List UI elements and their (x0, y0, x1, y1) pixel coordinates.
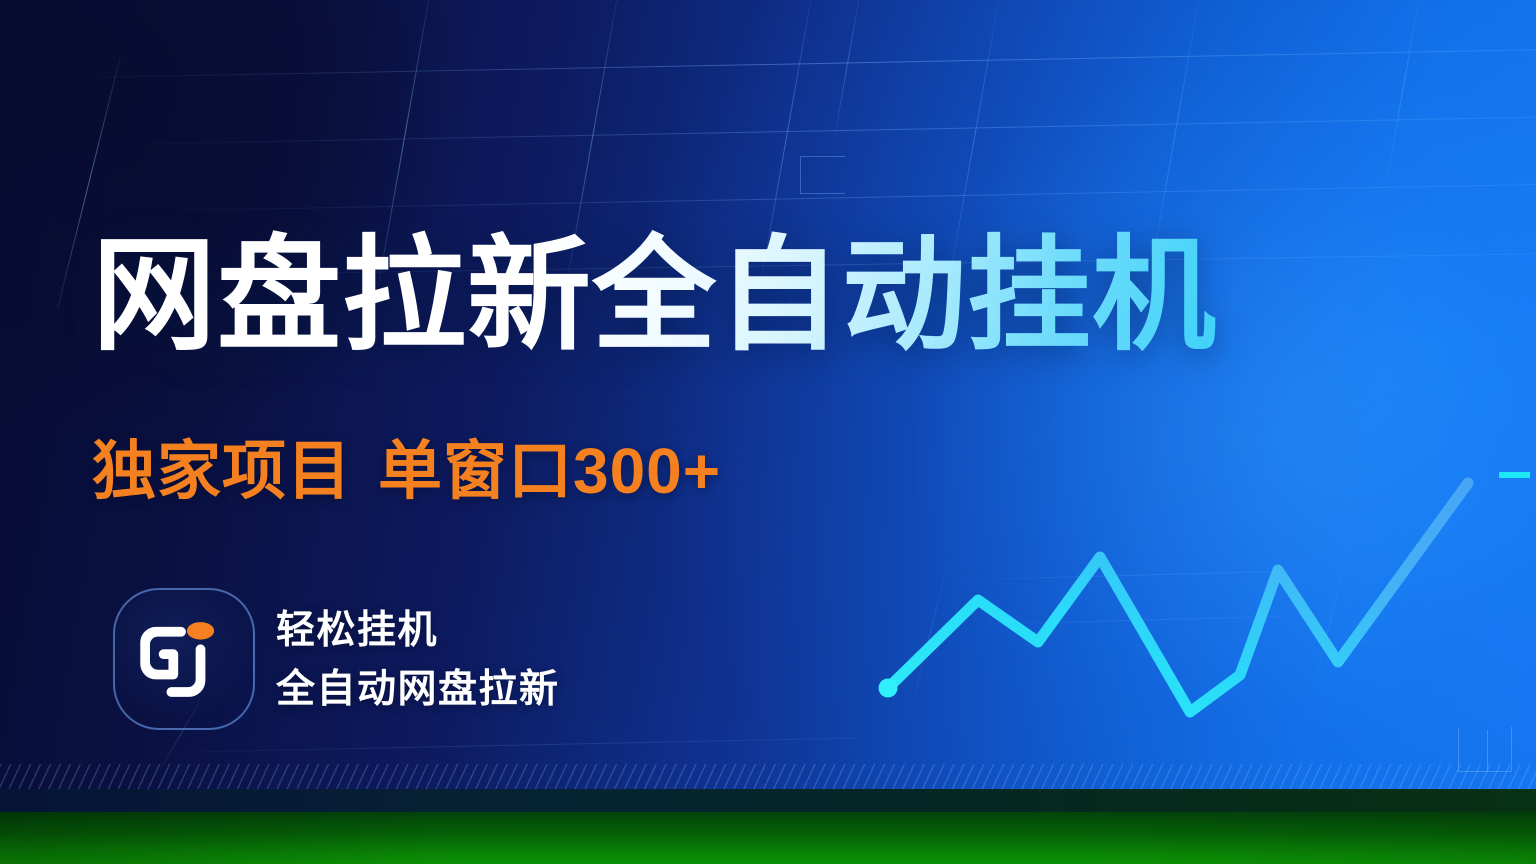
logo-gj-icon (115, 590, 253, 728)
corner-bracket (800, 156, 845, 194)
grid-line-diagonal (834, 0, 861, 138)
subtitle-right: 单窗口300+ (378, 435, 721, 507)
subtitle: 独家项目单窗口300+ (92, 420, 721, 512)
grid-line-horizontal (180, 184, 1536, 211)
tagline: 轻松挂机 全自动网盘拉新 (276, 601, 560, 720)
growth-line-chart (830, 440, 1530, 790)
logo-badge (113, 588, 255, 730)
subtitle-left: 独家项目 (92, 435, 352, 507)
tagline-line-2: 全自动网盘拉新 (276, 660, 560, 719)
grid-line-horizontal (140, 737, 860, 753)
promo-banner: 网盘拉新全自动挂机 独家项目单窗口300+ 轻松挂机 全自动网盘拉新 (0, 0, 1536, 864)
logo-letter-g (140, 627, 186, 679)
chart-svg (830, 440, 1530, 790)
chart-arrow-corner (1502, 475, 1530, 552)
logo-dot-icon (187, 622, 214, 639)
bottom-dark-strip (0, 789, 1536, 813)
grid-line-horizontal (148, 117, 1536, 145)
chart-start-dot (879, 679, 898, 698)
grid-line-horizontal (100, 49, 1536, 78)
grid-line-diagonal (1387, 0, 1421, 177)
chart-line (888, 483, 1468, 712)
bottom-green-strip (0, 812, 1536, 864)
page-title: 网盘拉新全自动挂机 (92, 228, 1217, 364)
tagline-line-1: 轻松挂机 (276, 601, 560, 660)
top-left-vignette (0, 0, 480, 440)
